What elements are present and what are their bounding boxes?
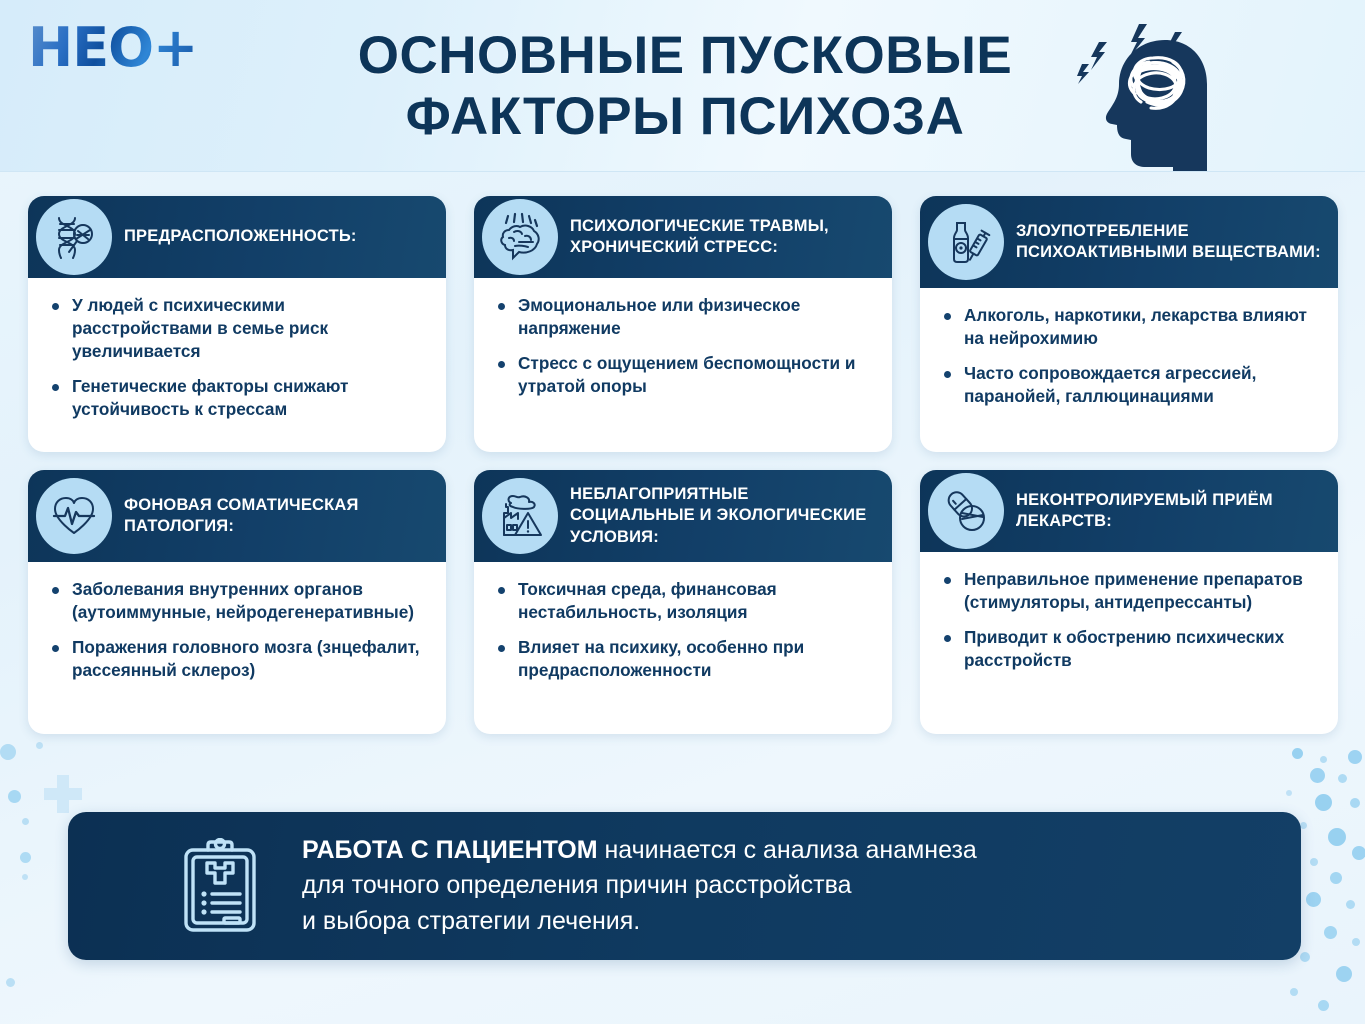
decor-dot bbox=[1350, 798, 1360, 808]
decor-dot bbox=[8, 790, 21, 803]
card-body: Эмоциональное или физическое напряжение … bbox=[474, 278, 892, 412]
list-item: Влияет на психику, особенно при предрасп… bbox=[494, 636, 874, 682]
decor-dot bbox=[1300, 822, 1307, 829]
decor-dot bbox=[1348, 750, 1362, 764]
card-header: ПРЕДРАСПОЛОЖЕННОСТЬ: bbox=[28, 196, 446, 278]
decor-dot bbox=[1292, 748, 1303, 759]
decor-dot bbox=[22, 874, 28, 880]
bullet-list: Неправильное применение препаратов (стим… bbox=[940, 568, 1320, 672]
page-header: НЕО+ ОСНОВНЫЕ ПУСКОВЫЕ ФАКТОРЫ ПСИХОЗА bbox=[0, 0, 1365, 172]
list-item: Токсичная среда, финансовая нестабильнос… bbox=[494, 578, 874, 624]
card-body: Токсичная среда, финансовая нестабильнос… bbox=[474, 562, 892, 696]
infographic-page: НЕО+ ОСНОВНЫЕ ПУСКОВЫЕ ФАКТОРЫ ПСИХОЗА bbox=[0, 0, 1365, 1024]
bullet-list: Алкоголь, наркотики, лекарства влияют на… bbox=[940, 304, 1320, 408]
decor-cross bbox=[57, 775, 69, 813]
factor-card-grid: ПРЕДРАСПОЛОЖЕННОСТЬ: У людей с психическ… bbox=[28, 196, 1338, 734]
list-item: Генетические факторы снижают устойчивост… bbox=[48, 375, 428, 421]
banner-line-3: и выбора стратегии лечения. bbox=[302, 904, 977, 940]
decor-dot bbox=[0, 744, 16, 760]
bullet-list: Токсичная среда, финансовая нестабильнос… bbox=[494, 578, 874, 682]
bottle-syringe-icon bbox=[928, 204, 1004, 280]
card-title: ЗЛОУПОТРЕБЛЕНИЕ ПСИХОАКТИВНЫМИ ВЕЩЕСТВАМ… bbox=[1016, 221, 1324, 263]
list-item: Эмоциональное или физическое напряжение bbox=[494, 294, 874, 340]
card-substance-abuse: ЗЛОУПОТРЕБЛЕНИЕ ПСИХОАКТИВНЫМИ ВЕЩЕСТВАМ… bbox=[920, 196, 1338, 452]
banner-line-2: для точного определения причин расстройс… bbox=[302, 868, 977, 904]
card-title: ФОНОВАЯ СОМАТИЧЕСКАЯ ПАТОЛОГИЯ: bbox=[124, 495, 432, 537]
card-header: ПСИХОЛОГИЧЕСКИЕ ТРАВМЫ, ХРОНИЧЕСКИЙ СТРЕ… bbox=[474, 196, 892, 278]
page-title-line-2: ФАКТОРЫ ПСИХОЗА bbox=[330, 87, 1040, 148]
decor-dot bbox=[6, 978, 15, 987]
card-somatic-pathology: ФОНОВАЯ СОМАТИЧЕСКАЯ ПАТОЛОГИЯ: Заболева… bbox=[28, 470, 446, 734]
dna-magnifier-icon bbox=[36, 199, 112, 275]
list-item: Алкоголь, наркотики, лекарства влияют на… bbox=[940, 304, 1320, 350]
heart-pulse-icon bbox=[36, 478, 112, 554]
banner-rest: начинается с анализа анамнеза bbox=[598, 836, 977, 864]
banner-line-1: РАБОТА С ПАЦИЕНТОМ начинается с анализа … bbox=[302, 833, 977, 869]
card-body: Неправильное применение препаратов (стим… bbox=[920, 552, 1338, 686]
decor-dot bbox=[1324, 926, 1337, 939]
page-title: ОСНОВНЫЕ ПУСКОВЫЕ ФАКТОРЫ ПСИХОЗА bbox=[330, 26, 1040, 148]
bullet-list: Эмоциональное или физическое напряжение … bbox=[494, 294, 874, 398]
card-predisposition: ПРЕДРАСПОЛОЖЕННОСТЬ: У людей с психическ… bbox=[28, 196, 446, 452]
card-header: ЗЛОУПОТРЕБЛЕНИЕ ПСИХОАКТИВНЫМИ ВЕЩЕСТВАМ… bbox=[920, 196, 1338, 288]
list-item: Часто сопровождается агрессией, паранойе… bbox=[940, 362, 1320, 408]
decor-dot bbox=[1346, 900, 1355, 909]
decor-dot bbox=[1315, 794, 1332, 811]
stressed-brain-icon bbox=[482, 199, 558, 275]
list-item: Неправильное применение препаратов (стим… bbox=[940, 568, 1320, 614]
banner-lead: РАБОТА С ПАЦИЕНТОМ bbox=[302, 836, 598, 864]
decor-dot bbox=[1286, 790, 1292, 796]
card-title: НЕКОНТРОЛИРУЕМЫЙ ПРИЁМ ЛЕКАРСТВ: bbox=[1016, 490, 1324, 532]
card-header: ФОНОВАЯ СОМАТИЧЕСКАЯ ПАТОЛОГИЯ: bbox=[28, 470, 446, 562]
card-body: Алкоголь, наркотики, лекарства влияют на… bbox=[920, 288, 1338, 422]
decor-dot bbox=[1306, 892, 1321, 907]
conclusion-banner: РАБОТА С ПАЦИЕНТОМ начинается с анализа … bbox=[68, 812, 1301, 960]
decor-dot bbox=[20, 852, 31, 863]
decor-dot bbox=[36, 742, 43, 749]
decor-cross bbox=[44, 788, 82, 800]
list-item: У людей с психическими расстройствами в … bbox=[48, 294, 428, 363]
list-item: Стресс с ощущением беспомощности и утрат… bbox=[494, 352, 874, 398]
decor-dot bbox=[1352, 846, 1365, 860]
card-social-ecological: НЕБЛАГОПРИЯТНЫЕ СОЦИАЛЬНЫЕ И ЭКОЛОГИЧЕСК… bbox=[474, 470, 892, 734]
list-item: Приводит к обострению психических расстр… bbox=[940, 626, 1320, 672]
card-header: НЕКОНТРОЛИРУЕМЫЙ ПРИЁМ ЛЕКАРСТВ: bbox=[920, 470, 1338, 552]
decor-dot bbox=[1352, 938, 1360, 946]
decor-dot bbox=[1328, 828, 1346, 846]
decor-dot bbox=[1310, 768, 1325, 783]
decor-dot bbox=[1318, 1000, 1329, 1011]
factory-warning-icon bbox=[482, 478, 558, 554]
card-title: ПРЕДРАСПОЛОЖЕННОСТЬ: bbox=[124, 226, 357, 247]
card-uncontrolled-medication: НЕКОНТРОЛИРУЕМЫЙ ПРИЁМ ЛЕКАРСТВ: Неправи… bbox=[920, 470, 1338, 734]
list-item: Поражения головного мозга (знцефалит, ра… bbox=[48, 636, 428, 682]
decor-dot bbox=[1310, 858, 1318, 866]
decor-dot bbox=[1330, 872, 1342, 884]
decor-dot bbox=[1290, 988, 1298, 996]
clipboard-medical-icon bbox=[172, 838, 268, 934]
banner-text: РАБОТА С ПАЦИЕНТОМ начинается с анализа … bbox=[302, 833, 977, 940]
card-body: У людей с психическими расстройствами в … bbox=[28, 278, 446, 434]
pills-icon bbox=[928, 473, 1004, 549]
decor-dot bbox=[1300, 952, 1310, 962]
bullet-list: У людей с психическими расстройствами в … bbox=[48, 294, 428, 420]
brand-logo: НЕО+ bbox=[28, 18, 218, 78]
page-title-line-1: ОСНОВНЫЕ ПУСКОВЫЕ bbox=[330, 26, 1040, 87]
card-header: НЕБЛАГОПРИЯТНЫЕ СОЦИАЛЬНЫЕ И ЭКОЛОГИЧЕСК… bbox=[474, 470, 892, 562]
card-body: Заболевания внутренних органов (аутоимму… bbox=[28, 562, 446, 696]
decor-dot bbox=[1336, 966, 1352, 982]
bullet-list: Заболевания внутренних органов (аутоимму… bbox=[48, 578, 428, 682]
head-with-tangled-brain-icon bbox=[1077, 2, 1257, 172]
card-title: НЕБЛАГОПРИЯТНЫЕ СОЦИАЛЬНЫЕ И ЭКОЛОГИЧЕСК… bbox=[570, 484, 878, 547]
list-item: Заболевания внутренних органов (аутоимму… bbox=[48, 578, 428, 624]
decor-dot bbox=[1320, 756, 1327, 763]
card-title: ПСИХОЛОГИЧЕСКИЕ ТРАВМЫ, ХРОНИЧЕСКИЙ СТРЕ… bbox=[570, 216, 878, 258]
card-psychological-trauma: ПСИХОЛОГИЧЕСКИЕ ТРАВМЫ, ХРОНИЧЕСКИЙ СТРЕ… bbox=[474, 196, 892, 452]
decor-dot bbox=[1338, 774, 1347, 783]
decor-dot bbox=[22, 818, 29, 825]
